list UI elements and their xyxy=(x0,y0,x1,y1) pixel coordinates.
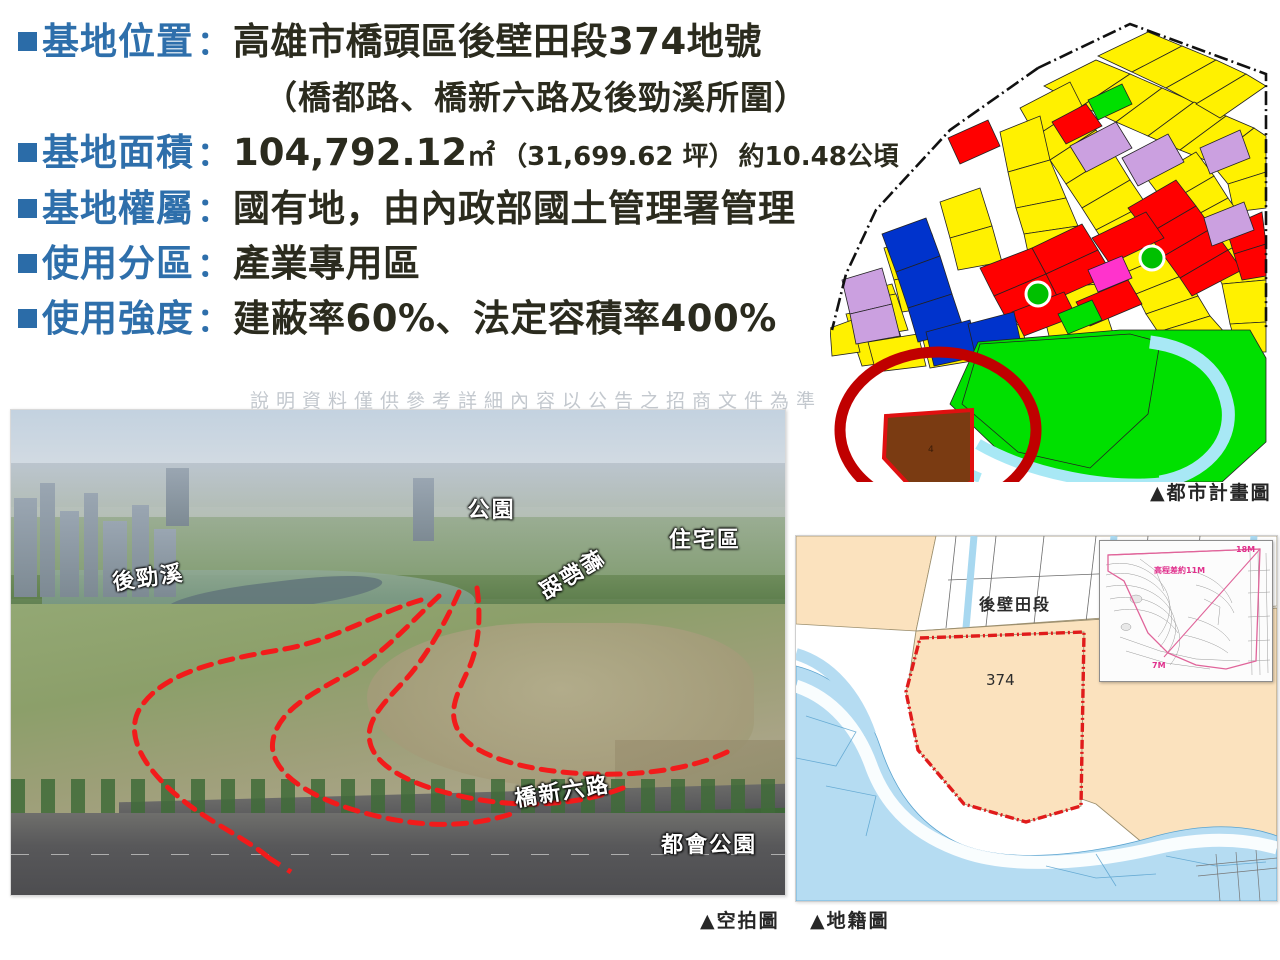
spec-colon-intensity: ： xyxy=(194,293,233,341)
inset-bottom-mark: 7M xyxy=(1152,661,1166,670)
spec-label-ownership: 基地權屬 xyxy=(42,185,194,232)
photo-street-trees xyxy=(11,779,785,813)
spec-row-location: 基地位置 ： 高雄市橋頭區後壁田段374地號 xyxy=(18,16,898,65)
spec-colon-ownership: ： xyxy=(194,183,233,231)
spec-row-intensity: 使用強度 ： 建蔽率60%、法定容積率400% xyxy=(18,293,898,342)
cadastral-caption: ▲地籍圖 xyxy=(810,906,890,933)
cadastral-map: 後壁田段 374 xyxy=(795,535,1278,902)
photo-tower-center xyxy=(413,478,433,541)
cadastral-parcel-number: 374 xyxy=(986,671,1015,689)
aerial-caption: ▲空拍圖 xyxy=(700,906,780,933)
aerial-photo: 公園 住宅區 橋都路 後勁溪 橋新六路 都會公園 xyxy=(10,409,786,896)
spec-value-area: 104,792.12 xyxy=(233,129,467,176)
spec-unit-area: ㎡ xyxy=(467,134,495,174)
spec-label-intensity: 使用強度 xyxy=(42,295,194,342)
bullet-square-icon xyxy=(18,199,37,218)
bullet-square-icon xyxy=(18,254,37,273)
spec-label-location: 基地位置 xyxy=(42,18,194,65)
site-spec-list: 基地位置 ： 高雄市橋頭區後壁田段374地號 （橋都路、橋新六路及後勁溪所圍） … xyxy=(18,16,898,349)
spec-row-ownership: 基地權屬 ： 國有地，由內政部國土管理署管理 xyxy=(18,183,898,232)
spec-value-ownership: 國有地，由內政部國土管理署管理 xyxy=(233,185,796,232)
spec-row-zoning: 使用分區 ： 產業專用區 xyxy=(18,238,898,287)
spec-value-zoning: 產業專用區 xyxy=(233,240,421,287)
spec-colon-location: ： xyxy=(194,16,233,64)
photo-label-metropolitan-park: 都會公園 xyxy=(661,827,757,859)
spec-colon-zoning: ： xyxy=(194,238,233,286)
urban-plan-map: 4 xyxy=(830,12,1272,482)
slide-root: 基地位置 ： 高雄市橋頭區後壁田段374地號 （橋都路、橋新六路及後勁溪所圍） … xyxy=(0,0,1280,960)
inset-elevation-note: 高程差約11M xyxy=(1154,565,1205,576)
spec-value-location: 高雄市橋頭區後壁田段374地號 xyxy=(233,18,762,65)
spec-row-area: 基地面積 ： 104,792.12 ㎡ （31,699.62 坪） 約10.48… xyxy=(18,127,898,176)
bullet-square-icon xyxy=(18,309,37,328)
photo-label-park: 公園 xyxy=(468,492,516,524)
photo-label-residential: 住宅區 xyxy=(669,522,741,554)
bullet-square-icon xyxy=(18,32,37,51)
cadastral-section-label: 後壁田段 xyxy=(979,591,1051,615)
svg-text:4: 4 xyxy=(928,445,934,455)
inset-top-mark: 18M xyxy=(1236,545,1255,554)
bullet-square-icon xyxy=(18,143,37,162)
topography-inset: 高程差約11M 18M 7M xyxy=(1099,540,1273,682)
spec-label-zoning: 使用分區 xyxy=(42,240,194,287)
zoning-caption: ▲都市計畫圖 xyxy=(1150,478,1272,505)
spec-area-ping: （31,699.62 坪） xyxy=(501,136,734,173)
photo-tower-left xyxy=(166,468,189,526)
spec-label-area: 基地面積 xyxy=(42,129,194,176)
spec-colon-area: ： xyxy=(194,127,233,175)
spec-sub-location: （橋都路、橋新六路及後勁溪所圍） xyxy=(264,71,898,119)
spec-value-intensity: 建蔽率60%、法定容積率400% xyxy=(233,295,777,342)
